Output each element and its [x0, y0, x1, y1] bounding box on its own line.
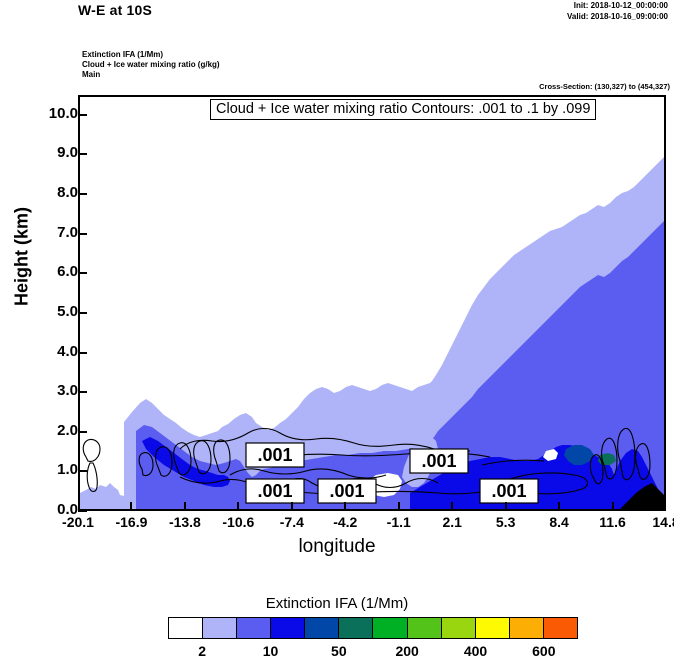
y-tick-label: 10.0 [34, 105, 78, 122]
colorbar-cell [169, 618, 203, 638]
y-tick-label: 8.0 [34, 184, 78, 201]
colorbar-tick-label: 600 [521, 643, 567, 659]
field-line-3: Main [82, 70, 220, 80]
x-tick-label: -1.1 [369, 514, 429, 530]
field-line-2: Cloud + Ice water mixing ratio (g/kg) [82, 60, 220, 70]
colorbar-tick-labels: 21050200400600 [168, 643, 578, 663]
x-tick-mark [398, 502, 400, 511]
colorbar-cell [305, 618, 339, 638]
colorbar-cell [271, 618, 305, 638]
colorbar-cell [237, 618, 271, 638]
x-axis-ticks [78, 95, 666, 511]
y-tick-label: 5.0 [34, 303, 78, 320]
colorbar-cell [408, 618, 442, 638]
y-axis: 0.01.02.03.04.05.06.07.08.09.010.0 [0, 0, 78, 667]
field-line-1: Extinction IFA (1/Mm) [82, 50, 220, 60]
y-tick-label: 1.0 [34, 461, 78, 478]
colorbar-title: Extinction IFA (1/Mm) [0, 595, 674, 612]
x-tick-mark [291, 502, 293, 511]
y-tick-label: 6.0 [34, 263, 78, 280]
page-title: W-E at 10S [78, 2, 152, 18]
colorbar-cell [339, 618, 373, 638]
x-tick-mark [505, 502, 507, 511]
x-tick-mark [451, 502, 453, 511]
y-tick-label: 9.0 [34, 144, 78, 161]
colorbar-cell [373, 618, 407, 638]
y-tick-label: 3.0 [34, 382, 78, 399]
x-tick-label: -7.4 [262, 514, 322, 530]
colorbar-cell [510, 618, 544, 638]
x-tick-mark [558, 502, 560, 511]
x-tick-label: 8.4 [529, 514, 589, 530]
x-tick-label: -16.9 [101, 514, 161, 530]
field-description-block: Extinction IFA (1/Mm) Cloud + Ice water … [82, 50, 220, 79]
x-tick-label: -10.6 [208, 514, 268, 530]
colorbar-tick-label: 200 [384, 643, 430, 659]
x-tick-label: -4.2 [315, 514, 375, 530]
y-tick-label: 2.0 [34, 422, 78, 439]
colorbar-tick-label: 2 [179, 643, 225, 659]
x-tick-mark [184, 502, 186, 511]
x-tick-mark [130, 502, 132, 511]
x-tick-mark [237, 502, 239, 511]
y-tick-label: 4.0 [34, 343, 78, 360]
x-tick-label: 5.3 [476, 514, 536, 530]
y-axis-title: Height (km) [12, 187, 33, 327]
colorbar-tick-label: 50 [316, 643, 362, 659]
x-tick-mark [612, 502, 614, 511]
colorbar-cell [442, 618, 476, 638]
colorbar-cell [476, 618, 510, 638]
x-axis-title: longitude [0, 536, 674, 558]
y-tick-label: 7.0 [34, 224, 78, 241]
colorbar-tick-label: 10 [248, 643, 294, 659]
colorbar [168, 617, 578, 639]
cross-section-label: Cross-Section: (130,327) to (454,327) [539, 82, 670, 91]
x-tick-label: -20.1 [48, 514, 108, 530]
x-tick-mark [344, 502, 346, 511]
colorbar-tick-label: 400 [453, 643, 499, 659]
colorbar-cell [544, 618, 577, 638]
valid-time: Valid: 2018-10-16_09:00:00 [567, 12, 668, 23]
init-time: Init: 2018-10-12_00:00:00 [567, 1, 668, 12]
x-tick-label: -13.8 [155, 514, 215, 530]
x-tick-label: 14.8 [636, 514, 674, 530]
x-axis: -20.1-16.9-13.8-10.6-7.4-4.2-1.12.15.38.… [0, 512, 674, 538]
x-tick-label: 2.1 [422, 514, 482, 530]
x-tick-label: 11.6 [583, 514, 643, 530]
init-valid-block: Init: 2018-10-12_00:00:00 Valid: 2018-10… [567, 1, 668, 22]
colorbar-cell [203, 618, 237, 638]
